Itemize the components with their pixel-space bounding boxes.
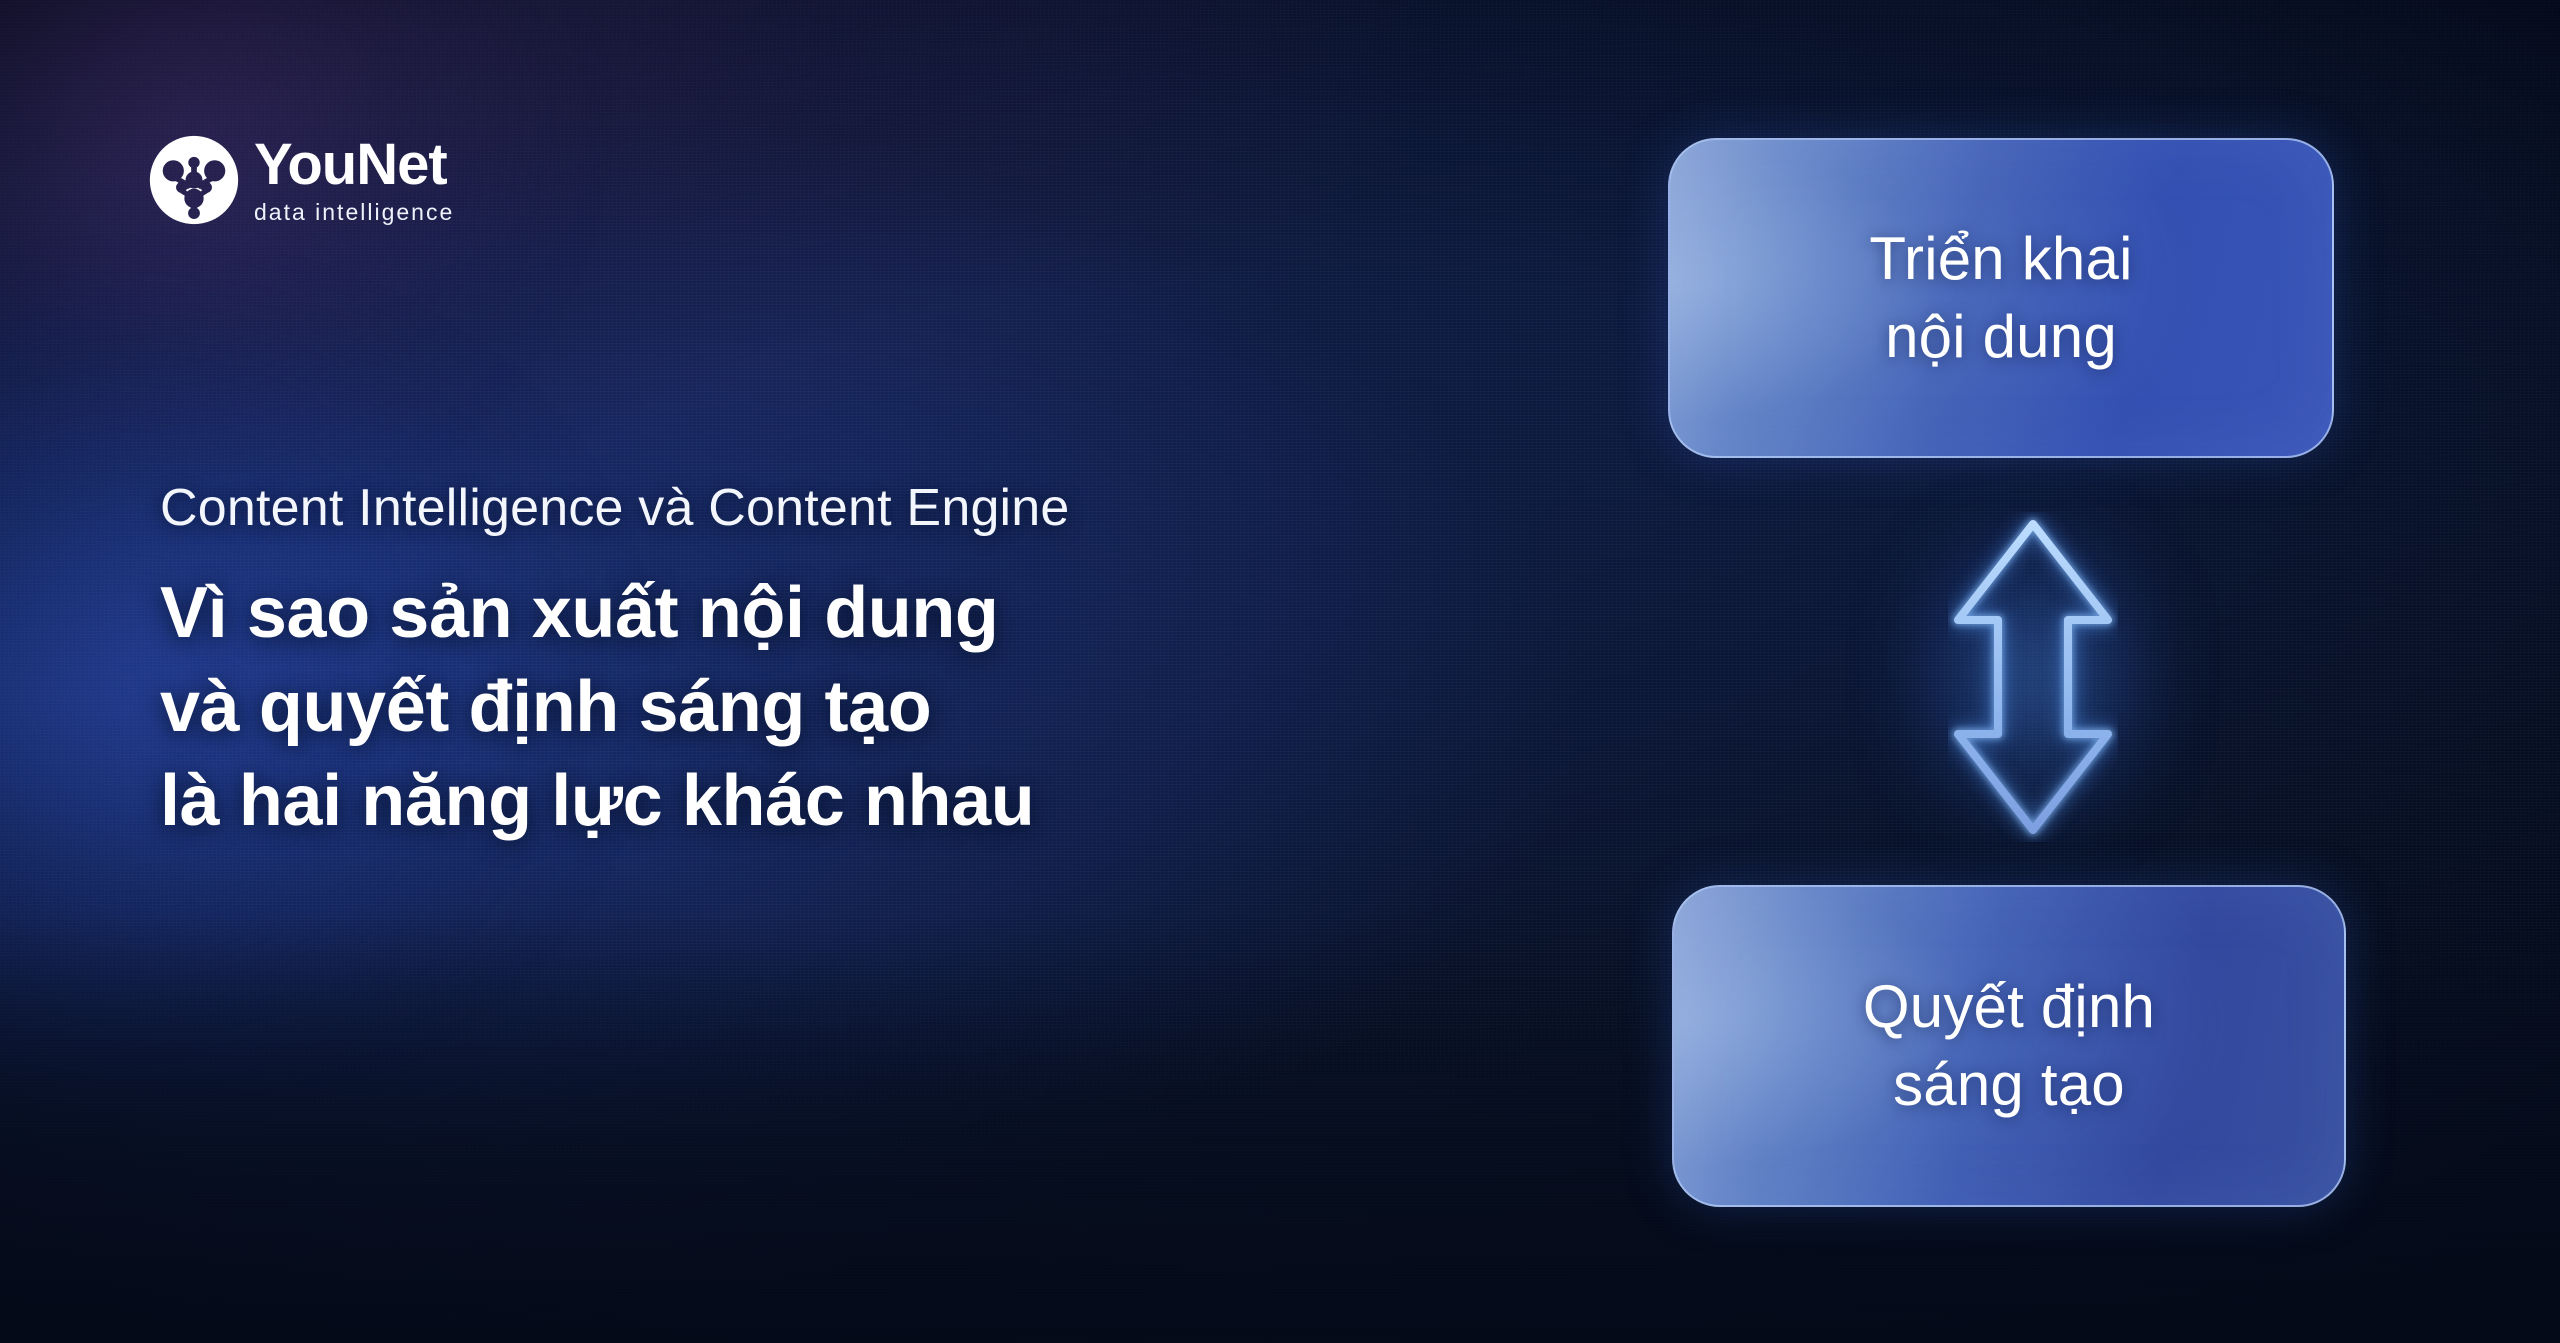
headline-line-1: Vì sao sản xuất nội dung <box>160 567 1590 661</box>
card-top-line-1: Triển khai <box>1869 220 2132 298</box>
card-bottom-line-1: Quyết định <box>1863 968 2155 1046</box>
connector-arrow <box>1908 512 2158 842</box>
page-title: Vì sao sản xuất nội dung và quyết định s… <box>160 567 1590 848</box>
slide-canvas: YouNet data intelligence Content Intelli… <box>0 0 2560 1343</box>
card-trien-khai-noi-dung: Triển khai nội dung <box>1668 138 2334 458</box>
younet-network-node-logo-icon <box>148 134 240 226</box>
brand-wordmark: YouNet data intelligence <box>254 135 454 225</box>
brand-logo: YouNet data intelligence <box>148 134 454 226</box>
eyebrow-text: Content Intelligence và Content Engine <box>160 478 1590 539</box>
headline-block: Content Intelligence và Content Engine V… <box>160 478 1590 848</box>
card-top-line-2: nội dung <box>1869 298 2132 376</box>
card-quyet-dinh-sang-tao: Quyết định sáng tạo <box>1672 885 2346 1207</box>
card-bottom-label: Quyết định sáng tạo <box>1863 968 2155 1124</box>
brand-tagline: data intelligence <box>254 199 454 225</box>
brand-name: YouNet <box>254 137 454 194</box>
card-top-label: Triển khai nội dung <box>1869 220 2132 376</box>
double-headed-vertical-arrow-icon <box>1948 512 2118 842</box>
headline-line-3: là hai năng lực khác nhau <box>160 755 1590 849</box>
headline-line-2: và quyết định sáng tạo <box>160 661 1590 755</box>
card-bottom-line-2: sáng tạo <box>1863 1046 2155 1124</box>
